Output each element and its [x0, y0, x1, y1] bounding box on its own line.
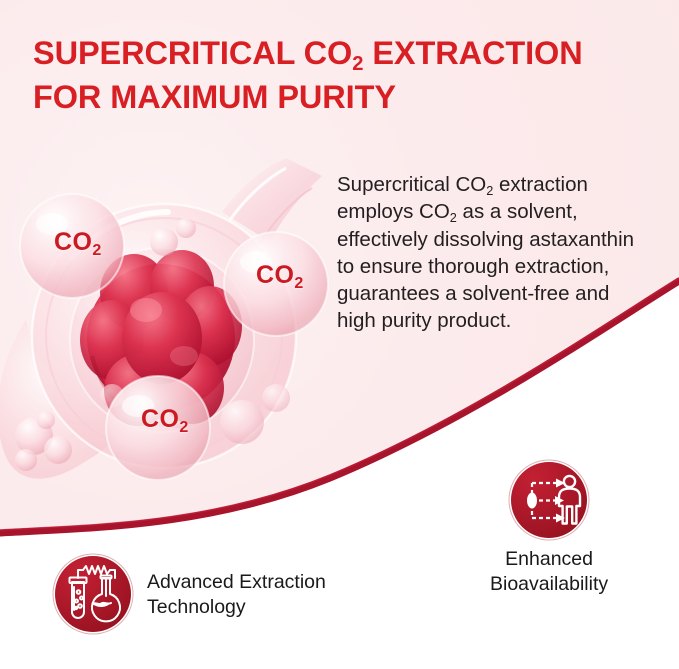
headline-line-1: SUPERCRITICAL CO2 EXTRACTION	[33, 35, 583, 71]
body-paragraph: Supercritical CO2 extraction employs CO2…	[337, 171, 637, 335]
feature-label-advanced-extraction: Advanced Extraction Technology	[147, 570, 326, 621]
feature-label-line-2: Technology	[147, 595, 326, 620]
feature-label-line-1: Advanced Extraction	[147, 570, 326, 595]
headline-line-2: FOR MAXIMUM PURITY	[33, 76, 653, 120]
co2-bubble-upper-left: CO2	[54, 228, 101, 257]
page-title: SUPERCRITICAL CO2 EXTRACTION FOR MAXIMUM…	[33, 32, 653, 119]
test-tube-and-flask-icon	[55, 556, 131, 632]
co2-bubble-lower: CO2	[141, 405, 188, 434]
feature-label-enhanced-bioavailability: Enhanced Bioavailability	[490, 547, 608, 598]
feature-enhanced-bioavailability: Enhanced Bioavailability	[490, 462, 608, 598]
feature-label-line-1: Enhanced	[490, 547, 608, 572]
absorption-to-body-icon	[511, 462, 587, 538]
infographic-canvas: CO2 CO2 CO2 SUPERCRITICAL CO2 EXTRACTION…	[0, 0, 679, 669]
feature-label-line-2: Bioavailability	[490, 572, 608, 597]
feature-advanced-extraction: Advanced Extraction Technology	[55, 556, 326, 632]
co2-bubble-right: CO2	[256, 261, 303, 290]
